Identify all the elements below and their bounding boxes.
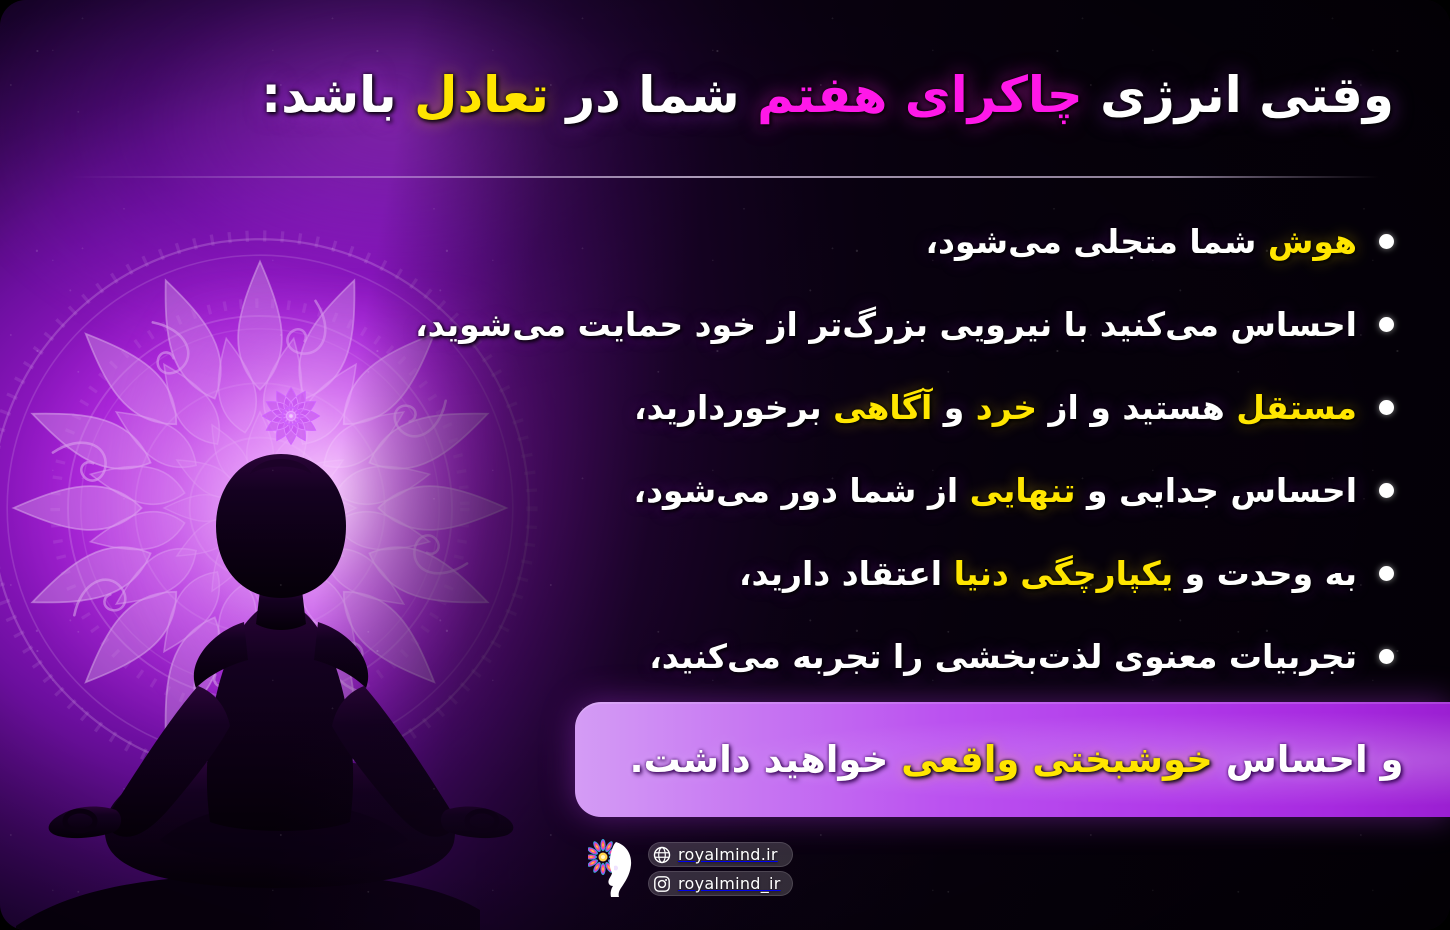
conclusion-highlight-box: و احساس خوشبختی واقعی خواهید داشت. bbox=[575, 702, 1450, 817]
bullet-dot-icon bbox=[1379, 234, 1394, 249]
infographic-poster: وقتی انرژی چاکرای هفتم شما در تعادل باشد… bbox=[0, 0, 1450, 930]
bullet-dot-icon bbox=[1379, 566, 1394, 581]
list-item: به وحدت و یکپارچگی دنیا اعتقاد دارید، bbox=[0, 532, 1450, 615]
globe-icon bbox=[653, 846, 671, 864]
benefit-1-segment-1: شما متجلی می‌شود، bbox=[925, 222, 1267, 261]
title-part-3: باشد: bbox=[261, 66, 414, 124]
list-item: تجربیات معنوی لذت‌بخشی را تجربه می‌کنید، bbox=[0, 615, 1450, 698]
bullet-dot-icon bbox=[1379, 317, 1394, 332]
benefit-5-segment-1: یکپارچگی دنیا bbox=[954, 554, 1173, 593]
title-highlight-chakra: چاکرای هفتم bbox=[757, 66, 1083, 124]
bullet-dot-icon bbox=[1379, 483, 1394, 498]
benefit-text-1: هوش شما متجلی می‌شود، bbox=[925, 222, 1357, 262]
instagram-handle-text: royalmind_ir bbox=[678, 874, 781, 893]
benefit-2-segment-0: احساس می‌کنید با نیرویی بزرگ‌تر از خود ح… bbox=[415, 305, 1357, 344]
instagram-icon bbox=[653, 875, 671, 893]
title-part-1: وقتی انرژی bbox=[1083, 66, 1394, 124]
benefit-5-segment-2: اعتقاد دارید، bbox=[739, 554, 954, 593]
benefit-5-segment-0: به وحدت و bbox=[1173, 554, 1357, 593]
list-item: هوش شما متجلی می‌شود، bbox=[0, 200, 1450, 283]
brand-footer: royalmind.ir royalmind_ir bbox=[588, 838, 793, 900]
benefit-4-segment-0: احساس جدایی و bbox=[1075, 471, 1357, 510]
title-highlight-balance: تعادل bbox=[414, 66, 549, 124]
instagram-handle[interactable]: royalmind_ir bbox=[648, 871, 793, 896]
website-handle[interactable]: royalmind.ir bbox=[648, 842, 793, 867]
conclusion-segment-0: و احساس bbox=[1213, 738, 1404, 781]
benefit-4-segment-1: تنهایی bbox=[970, 471, 1076, 510]
conclusion-segment-2: خواهید داشت. bbox=[629, 738, 901, 781]
benefit-3-segment-3: و bbox=[932, 388, 976, 427]
bullet-dot-icon bbox=[1379, 400, 1394, 415]
page-title: وقتی انرژی چاکرای هفتم شما در تعادل باشد… bbox=[314, 66, 1394, 125]
list-item: احساس جدایی و تنهایی از شما دور می‌شود، bbox=[0, 449, 1450, 532]
benefit-text-5: به وحدت و یکپارچگی دنیا اعتقاد دارید، bbox=[739, 554, 1357, 594]
conclusion-segment-1: خوشبختی واقعی bbox=[901, 738, 1213, 781]
benefit-text-3: مستقل هستید و از خرد و آگاهی برخوردارید، bbox=[634, 388, 1357, 428]
benefit-6-segment-0: تجربیات معنوی لذت‌بخشی را تجربه می‌کنید، bbox=[649, 637, 1357, 676]
list-item: احساس می‌کنید با نیرویی بزرگ‌تر از خود ح… bbox=[0, 283, 1450, 366]
bullet-dot-icon bbox=[1379, 649, 1394, 664]
website-handle-text: royalmind.ir bbox=[678, 845, 778, 864]
title-part-2: شما در bbox=[549, 66, 757, 124]
list-item: مستقل هستید و از خرد و آگاهی برخوردارید، bbox=[0, 366, 1450, 449]
benefit-text-2: احساس می‌کنید با نیرویی بزرگ‌تر از خود ح… bbox=[415, 305, 1357, 345]
royal-mind-logo bbox=[588, 838, 638, 900]
social-handles: royalmind.ir royalmind_ir bbox=[648, 842, 793, 896]
benefit-text-6: تجربیات معنوی لذت‌بخشی را تجربه می‌کنید، bbox=[649, 637, 1357, 677]
benefits-list: هوش شما متجلی می‌شود،احساس می‌کنید با نی… bbox=[0, 200, 1450, 698]
benefit-3-segment-2: خرد bbox=[976, 388, 1037, 427]
benefit-3-segment-4: آگاهی bbox=[833, 388, 932, 427]
benefit-4-segment-2: از شما دور می‌شود، bbox=[634, 471, 970, 510]
benefit-3-segment-0: مستقل bbox=[1236, 388, 1357, 427]
benefit-3-segment-5: برخوردارید، bbox=[634, 388, 833, 427]
benefit-1-segment-0: هوش bbox=[1268, 222, 1357, 261]
conclusion-text: و احساس خوشبختی واقعی خواهید داشت. bbox=[621, 738, 1403, 781]
title-divider bbox=[70, 176, 1378, 178]
benefit-3-segment-1: هستید و از bbox=[1037, 388, 1236, 427]
benefit-text-4: احساس جدایی و تنهایی از شما دور می‌شود، bbox=[634, 471, 1357, 511]
